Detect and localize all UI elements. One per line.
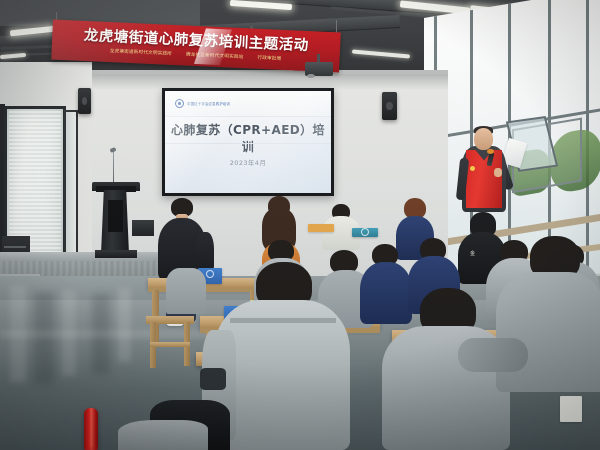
slide-title: 心肺复苏（CPR+AED）培训 <box>165 121 331 155</box>
back-desk-item <box>308 224 334 232</box>
slide-divider <box>165 143 331 144</box>
floor-reflection-dark-1 <box>34 292 54 384</box>
presenter-head <box>474 128 493 150</box>
wall-speaker-left <box>78 88 91 114</box>
floor-reflection-3 <box>118 288 131 362</box>
shoulder-seam <box>230 318 336 323</box>
podium-inset-panel <box>108 200 123 232</box>
banner-sub-text-3: 行政审批局 <box>257 55 281 62</box>
torso <box>166 268 206 314</box>
banner-sub-text-1: 龙虎塘街道新时代文明实践所 <box>110 48 173 57</box>
presenter-microphone-windscreen <box>487 149 494 154</box>
torso <box>118 420 208 450</box>
slide-logo: 中国红十字会应急救护培训 <box>175 99 230 108</box>
slide-logo-text: 中国红十字会应急救护培训 <box>187 101 230 106</box>
slide-date: 2023年4月 <box>165 157 331 167</box>
wall-speaker-right <box>382 92 397 120</box>
torso <box>496 272 600 392</box>
photo-scene: 龙虎塘街道心肺复苏培训主题活动 龙虎塘街道新时代文明实践所 腾龙社区新时代文明实… <box>0 0 600 450</box>
podium-base <box>95 250 137 258</box>
projection-screen: 中国红十字会应急救护培训 心肺复苏（CPR+AED）培训 2023年4月 <box>165 91 331 193</box>
forearm <box>458 338 528 372</box>
arm-cuff <box>200 368 226 390</box>
projector-lens <box>307 74 315 78</box>
av-equipment-box <box>132 220 154 236</box>
handout-row-3b <box>560 396 582 422</box>
podium-mic-stem <box>113 152 114 183</box>
floor-reflection-4 <box>0 330 210 338</box>
projection-screen-frame: 中国红十字会应急救护培训 心肺复苏（CPR+AED）培训 2023年4月 <box>162 88 334 196</box>
red-cross-logo-icon <box>175 99 184 108</box>
equipment-rack-line-1 <box>4 246 26 248</box>
torso <box>360 262 412 324</box>
presenter-vest-badge <box>470 166 475 171</box>
jacket-text: 金 <box>470 250 475 257</box>
stool-left-rail <box>150 342 190 347</box>
fire-extinguisher <box>84 408 98 450</box>
teal-item-back <box>352 228 378 237</box>
presenter-hand <box>494 168 502 177</box>
